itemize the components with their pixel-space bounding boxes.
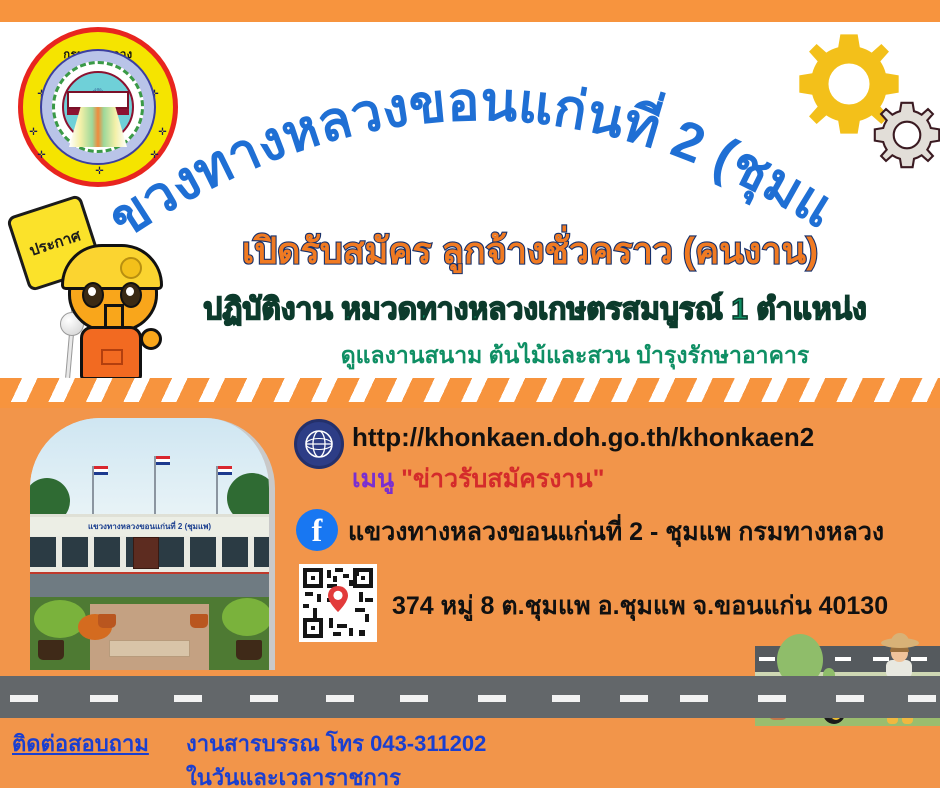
emblem-ornament: ✛ — [29, 128, 38, 137]
website-url[interactable]: http://khonkaen.doh.go.th/khonkaen2 — [352, 422, 814, 453]
road-dash — [10, 695, 38, 702]
photo-bush — [222, 598, 272, 636]
qr-code[interactable] — [299, 564, 377, 642]
photo-plaque — [109, 640, 190, 658]
qr-module — [343, 574, 349, 578]
contact-hours-line: ในวันและเวลาราชการ — [186, 760, 401, 788]
qr-module — [355, 608, 365, 612]
photo-planter — [38, 640, 64, 660]
mascot-eye-left — [82, 282, 104, 308]
duty-line: ดูแลงานสนาม ต้นไม้และสวน บำรุงรักษาอาคาร — [230, 338, 920, 374]
mascot-eye-right — [120, 282, 142, 308]
gear-icon — [872, 100, 940, 170]
road-dash — [552, 695, 580, 702]
photo-building-sign-text: แขวงทางหลวงขอนแก่นที่ 2 (ชุมแพ) — [88, 520, 211, 533]
map-pin-icon — [328, 586, 348, 612]
road-dash — [250, 695, 278, 702]
qr-module — [349, 580, 353, 586]
qr-finder — [303, 618, 323, 638]
qr-module — [333, 632, 341, 636]
emblem-ornament: ✛ — [95, 167, 104, 176]
road-dash — [908, 695, 936, 702]
facebook-glyph: f — [296, 509, 338, 551]
bottom-road-divider — [0, 676, 940, 718]
qr-module — [359, 630, 365, 636]
office-address: 374 หมู่ 8 ต.ชุมแพ อ.ชุมแพ จ.ขอนแก่น 401… — [392, 586, 888, 626]
road-dash — [620, 695, 648, 702]
menu-label: เมนู — [352, 465, 394, 493]
gardener-hat-crown — [891, 633, 909, 643]
photo-planter — [98, 614, 116, 628]
office-photo: แขวงทางหลวงขอนแก่นที่ 2 (ชุมแพ) — [30, 418, 275, 670]
qr-module — [349, 628, 353, 636]
photo-planter — [190, 614, 208, 628]
photo-flag — [218, 466, 232, 475]
globe-icon — [294, 419, 344, 469]
garden-road-dash — [759, 657, 775, 661]
road-dash — [174, 695, 202, 702]
facebook-page-name[interactable]: แขวงทางหลวงขอนแก่นที่ 2 - ชุมแพ กรมทางหล… — [348, 512, 884, 552]
top-accent-bar — [0, 0, 940, 22]
road-dash — [400, 695, 428, 702]
photo-road — [30, 574, 269, 597]
qr-module — [329, 618, 333, 628]
road-dash — [90, 695, 118, 702]
qr-module — [335, 568, 343, 572]
road-dash — [758, 695, 786, 702]
qr-module — [327, 570, 331, 578]
photo-building-door — [133, 537, 159, 569]
recruitment-headline: เปิดรับสมัคร ลูกจ้างชั่วคราว (คนงาน) — [150, 222, 910, 279]
qr-module — [303, 604, 309, 608]
qr-module — [355, 570, 359, 576]
photo-building: แขวงทางหลวงขอนแก่นที่ 2 (ชุมแพ) — [30, 514, 269, 574]
mascot-pocket — [101, 349, 123, 365]
website-menu-hint: เมนู "ข่าวรับสมัครงาน" — [352, 459, 604, 499]
qr-finder — [303, 568, 323, 588]
qr-module — [365, 598, 373, 602]
office-title-arc: แขวงทางหลวงขอนแก่นที่ 2 (ชุมแพ) — [120, 46, 840, 246]
qr-module — [305, 592, 313, 596]
photo-flag — [156, 456, 170, 465]
photo-planter — [236, 640, 262, 660]
photo-building-sign: แขวงทางหลวงขอนแก่นที่ 2 (ชุมแพ) — [30, 517, 269, 536]
qr-module — [337, 624, 347, 628]
poster: กรมทางหลวง ✛ ✛ ✛ ✛ ✛ ✛ ✛ ♕ ประกาศ — [0, 0, 940, 788]
garden-road-dash — [873, 657, 889, 661]
garden-road-dash — [911, 657, 927, 661]
qr-grid — [303, 568, 373, 638]
garden-road-dash — [835, 657, 851, 661]
contact-phone-line: งานสารบรรณ โทร 043-311202 — [186, 726, 486, 761]
qr-module — [317, 594, 321, 602]
position-line: ปฏิบัติงาน หมวดทางหลวงเกษตรสมบูรณ์ 1 ตำแ… — [150, 286, 920, 333]
contact-label: ติดต่อสอบถาม — [12, 726, 149, 761]
road-dash — [478, 695, 506, 702]
emblem-ornament: ✛ — [37, 151, 46, 160]
photo-flag — [94, 466, 108, 475]
qr-module — [365, 614, 369, 622]
qr-module — [359, 592, 363, 602]
road-dash — [326, 695, 354, 702]
menu-name: "ข่าวรับสมัครงาน" — [401, 465, 604, 493]
qr-module — [333, 576, 337, 582]
helmet-badge — [120, 257, 142, 279]
road-dash — [680, 695, 708, 702]
mascot-body — [80, 326, 142, 380]
qr-module — [313, 608, 317, 618]
photo-bush — [34, 600, 86, 638]
facebook-icon[interactable]: f — [296, 509, 338, 551]
road-dash — [836, 695, 864, 702]
